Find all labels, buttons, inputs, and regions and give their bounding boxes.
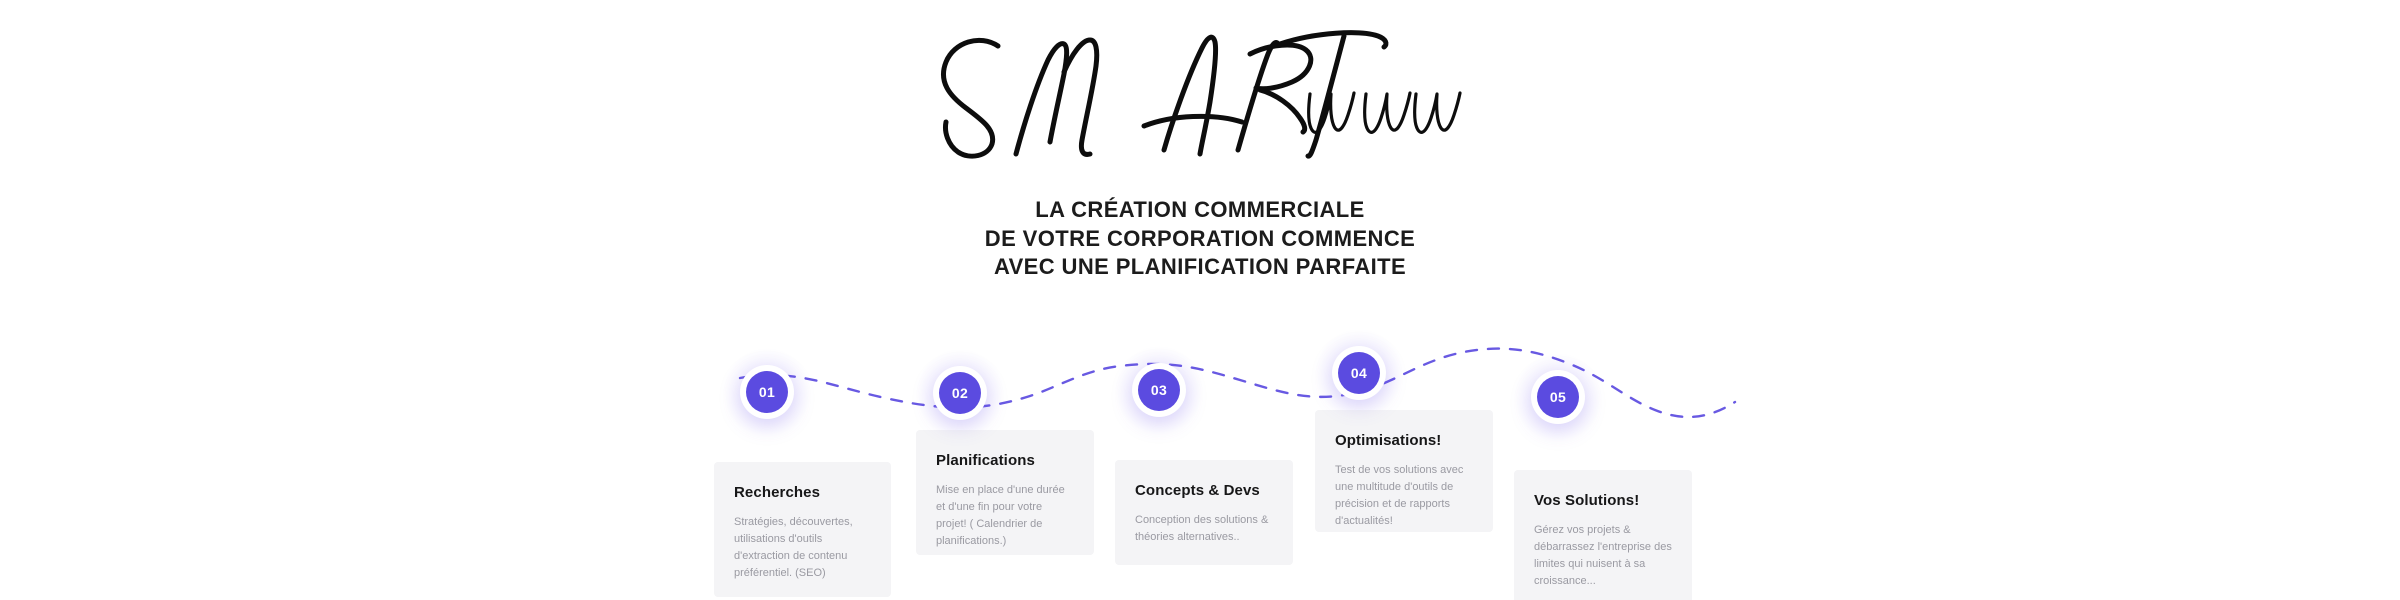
headline-line-2: DE VOTRE CORPORATION COMMENCE — [0, 225, 2400, 254]
step-card-02[interactable]: Planifications Mise en place d'une durée… — [916, 430, 1094, 555]
step-card-04[interactable]: Optimisations! Test de vos solutions ave… — [1315, 410, 1493, 532]
headline-line-1: LA CRÉATION COMMERCIALE — [0, 196, 2400, 225]
timeline-badge-02[interactable]: 02 — [933, 366, 987, 420]
process-timeline: 01 Recherches Stratégies, découvertes, u… — [0, 340, 2400, 600]
step-card-03-title: Concepts & Devs — [1135, 482, 1273, 500]
headline-line-3: AVEC UNE PLANIFICATION PARFAITE — [0, 253, 2400, 282]
step-card-02-title: Planifications — [936, 452, 1074, 470]
step-card-05-title: Vos Solutions! — [1534, 492, 1672, 510]
logo-smart-www — [920, 14, 1480, 164]
brand-header — [0, 0, 2400, 169]
timeline-badge-03[interactable]: 03 — [1132, 363, 1186, 417]
page-headline: LA CRÉATION COMMERCIALE DE VOTRE CORPORA… — [0, 196, 2400, 282]
logo-script-svg — [920, 14, 1480, 164]
step-card-04-title: Optimisations! — [1335, 432, 1473, 450]
step-card-02-description: Mise en place d'une durée et d'une fin p… — [936, 482, 1074, 550]
step-card-04-description: Test de vos solutions avec une multitude… — [1335, 462, 1473, 530]
timeline-badge-05[interactable]: 05 — [1531, 370, 1585, 424]
step-card-05-description: Gérez vos projets & débarrassez l'entrep… — [1534, 522, 1672, 590]
timeline-badge-01[interactable]: 01 — [740, 365, 794, 419]
step-card-03-description: Conception des solutions & théories alte… — [1135, 512, 1273, 546]
timeline-badge-01-number: 01 — [746, 371, 788, 413]
timeline-badge-05-number: 05 — [1537, 376, 1579, 418]
timeline-badge-04[interactable]: 04 — [1332, 346, 1386, 400]
step-card-01[interactable]: Recherches Stratégies, découvertes, util… — [714, 462, 891, 597]
timeline-badge-04-number: 04 — [1338, 352, 1380, 394]
step-card-05[interactable]: Vos Solutions! Gérez vos projets & débar… — [1514, 470, 1692, 600]
step-card-01-description: Stratégies, découvertes, utilisations d'… — [734, 514, 871, 582]
step-card-03[interactable]: Concepts & Devs Conception des solutions… — [1115, 460, 1293, 565]
step-card-01-title: Recherches — [734, 484, 871, 502]
timeline-badge-03-number: 03 — [1138, 369, 1180, 411]
timeline-badge-02-number: 02 — [939, 372, 981, 414]
page-root: LA CRÉATION COMMERCIALE DE VOTRE CORPORA… — [0, 0, 2400, 600]
